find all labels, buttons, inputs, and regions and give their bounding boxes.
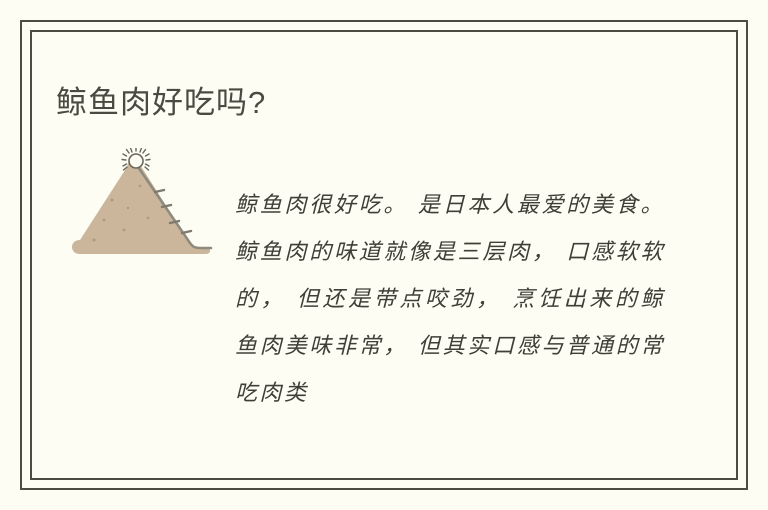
sand-dune-with-sun-icon: [58, 148, 218, 258]
article-card: 鲸鱼肉好吃吗?: [0, 0, 768, 510]
page-title: 鲸鱼肉好吃吗?: [56, 83, 266, 123]
article-body-text: 鲸鱼肉很好吃。 是日本人最爱的美食。 鲸鱼肉的味道就像是三层肉， 口感软软的， …: [235, 182, 665, 417]
card-content: 鲸鱼肉好吃吗?: [30, 30, 738, 480]
